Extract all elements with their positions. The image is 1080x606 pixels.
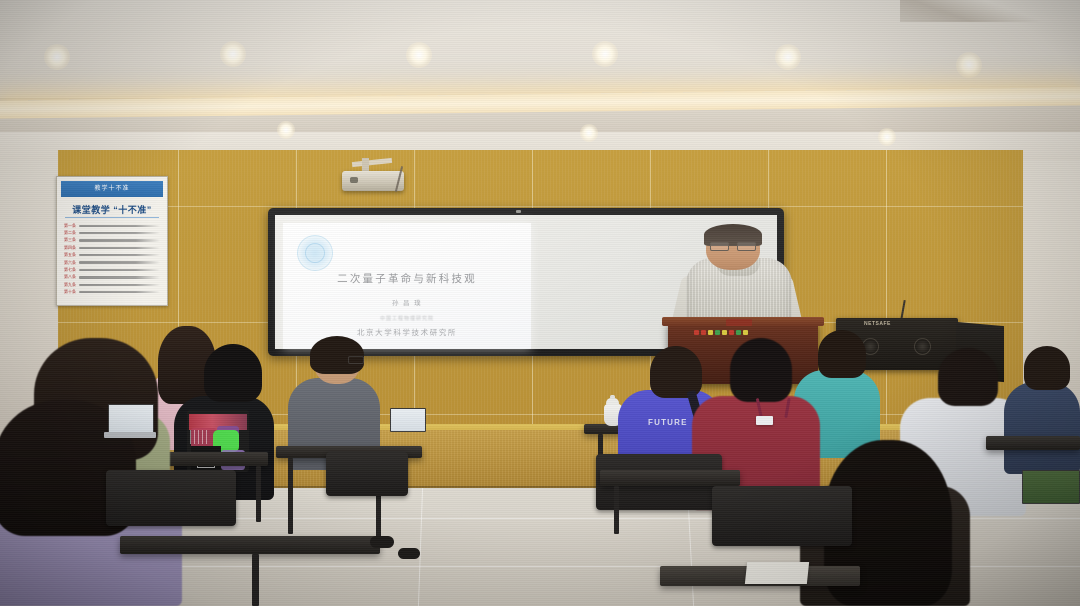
projector-mount bbox=[362, 158, 369, 172]
poster-rule-item: 第七条 bbox=[64, 266, 160, 273]
poster-rule-text bbox=[79, 254, 160, 256]
av-rack-label: NETSAFE bbox=[864, 321, 891, 327]
teapot-lid bbox=[606, 398, 619, 405]
poster-rule-text bbox=[79, 276, 160, 278]
podium-button[interactable] bbox=[715, 330, 720, 335]
slide-author: 孙 昌 璞 bbox=[283, 297, 531, 307]
slide-affiliation-small: 中国工程物理研究院 bbox=[283, 315, 531, 322]
lecture-hall-photo: 教学十不准 课堂教学 “十不准” 第一条 第二条 第三条 第四条 第五条 第六条… bbox=[0, 0, 1080, 606]
slide-affiliation: 北京大学科学技术研究所 bbox=[283, 327, 531, 338]
desk-foreground-left bbox=[120, 536, 380, 554]
downlight-4 bbox=[592, 41, 618, 67]
poster-rule-text bbox=[79, 239, 160, 241]
student-hair bbox=[818, 330, 866, 378]
chair-back bbox=[326, 452, 408, 496]
desk-leg bbox=[614, 486, 619, 534]
poster-rule-item: 第二条 bbox=[64, 229, 160, 236]
podium-button[interactable] bbox=[743, 330, 748, 335]
poster-rule-item: 第四条 bbox=[64, 244, 160, 251]
podium-panel bbox=[726, 319, 752, 326]
poster-rule-text bbox=[79, 247, 160, 249]
podium-control-buttons[interactable] bbox=[694, 330, 748, 335]
student-hair bbox=[204, 344, 262, 402]
downlight-5 bbox=[775, 44, 801, 70]
projected-slide: 二次量子革命与新科技观 孙 昌 璞 中国工程物理研究院 北京大学科学技术研究所 bbox=[283, 223, 531, 349]
teapot-knob bbox=[610, 395, 615, 399]
poster-title: 课堂教学 “十不准” bbox=[57, 203, 167, 216]
presenter-glasses-icon bbox=[710, 242, 756, 249]
podium-button[interactable] bbox=[729, 330, 734, 335]
student-glasses-icon bbox=[348, 356, 364, 364]
desk-foreground-right bbox=[600, 470, 740, 486]
desk-leg bbox=[288, 458, 293, 534]
podium-button[interactable] bbox=[708, 330, 713, 335]
chair-caster-icon bbox=[398, 548, 420, 559]
podium-button[interactable] bbox=[736, 330, 741, 335]
poster-rule-text bbox=[79, 261, 160, 263]
chair-back bbox=[712, 486, 852, 546]
downlight-1 bbox=[44, 44, 70, 70]
downlight-7 bbox=[277, 121, 295, 139]
student-hair bbox=[938, 348, 998, 406]
laptop-screen bbox=[390, 408, 426, 432]
poster-rule-item: 第八条 bbox=[64, 274, 160, 281]
downlight-9 bbox=[878, 128, 896, 146]
student-hair bbox=[1024, 346, 1070, 390]
podium-button[interactable] bbox=[694, 330, 699, 335]
laptop-base bbox=[104, 432, 156, 438]
chair-caster-icon bbox=[370, 536, 394, 548]
chair-back bbox=[106, 470, 236, 526]
downlight-2 bbox=[220, 41, 246, 67]
poster-divider bbox=[65, 217, 159, 218]
desk-right-edge bbox=[986, 436, 1080, 450]
student-hair bbox=[730, 338, 792, 402]
poster-rule-text bbox=[79, 225, 160, 227]
poster-rule-item: 第六条 bbox=[64, 259, 160, 266]
projector-lens-icon bbox=[350, 177, 358, 183]
name-badge bbox=[756, 416, 773, 425]
ceiling-crack bbox=[900, 0, 1080, 22]
poster-rule-text bbox=[79, 284, 160, 286]
downlight-3 bbox=[406, 42, 432, 68]
poster-rule-item: 第九条 bbox=[64, 281, 160, 288]
laptop-screen bbox=[108, 404, 154, 434]
laptop-screen bbox=[1022, 470, 1080, 504]
downlight-6 bbox=[956, 52, 982, 78]
desk-leg bbox=[256, 466, 261, 522]
student-torso bbox=[1004, 382, 1080, 474]
podium-button[interactable] bbox=[701, 330, 706, 335]
student-hair bbox=[310, 336, 364, 374]
av-speaker-driver-icon bbox=[914, 338, 931, 355]
desk-leg bbox=[252, 554, 259, 606]
university-emblem-icon bbox=[297, 235, 333, 271]
podium-button[interactable] bbox=[722, 330, 727, 335]
poster-rule-item: 第三条 bbox=[64, 237, 160, 244]
downlight-8 bbox=[580, 124, 598, 142]
poster-rule-text bbox=[79, 232, 160, 234]
shirt-text-future: FUTURE bbox=[648, 418, 688, 427]
poster-band-text: 教学十不准 bbox=[61, 181, 163, 197]
poster-rule-item: 第五条 bbox=[64, 252, 160, 259]
classroom-rules-poster: 教学十不准 课堂教学 “十不准” 第一条 第二条 第三条 第四条 第五条 第六条… bbox=[56, 176, 168, 306]
board-camera-icon bbox=[516, 210, 521, 213]
poster-rule-text bbox=[79, 291, 160, 293]
poster-rule-item: 第十条 bbox=[64, 289, 160, 296]
poster-rule-item: 第一条 bbox=[64, 222, 160, 229]
poster-rule-text bbox=[79, 269, 160, 271]
paper-sheet bbox=[745, 562, 809, 584]
poster-rule-list: 第一条 第二条 第三条 第四条 第五条 第六条 第七条 第八条 第九条 第十条 bbox=[64, 222, 160, 296]
slide-title: 二次量子革命与新科技观 bbox=[283, 271, 531, 286]
